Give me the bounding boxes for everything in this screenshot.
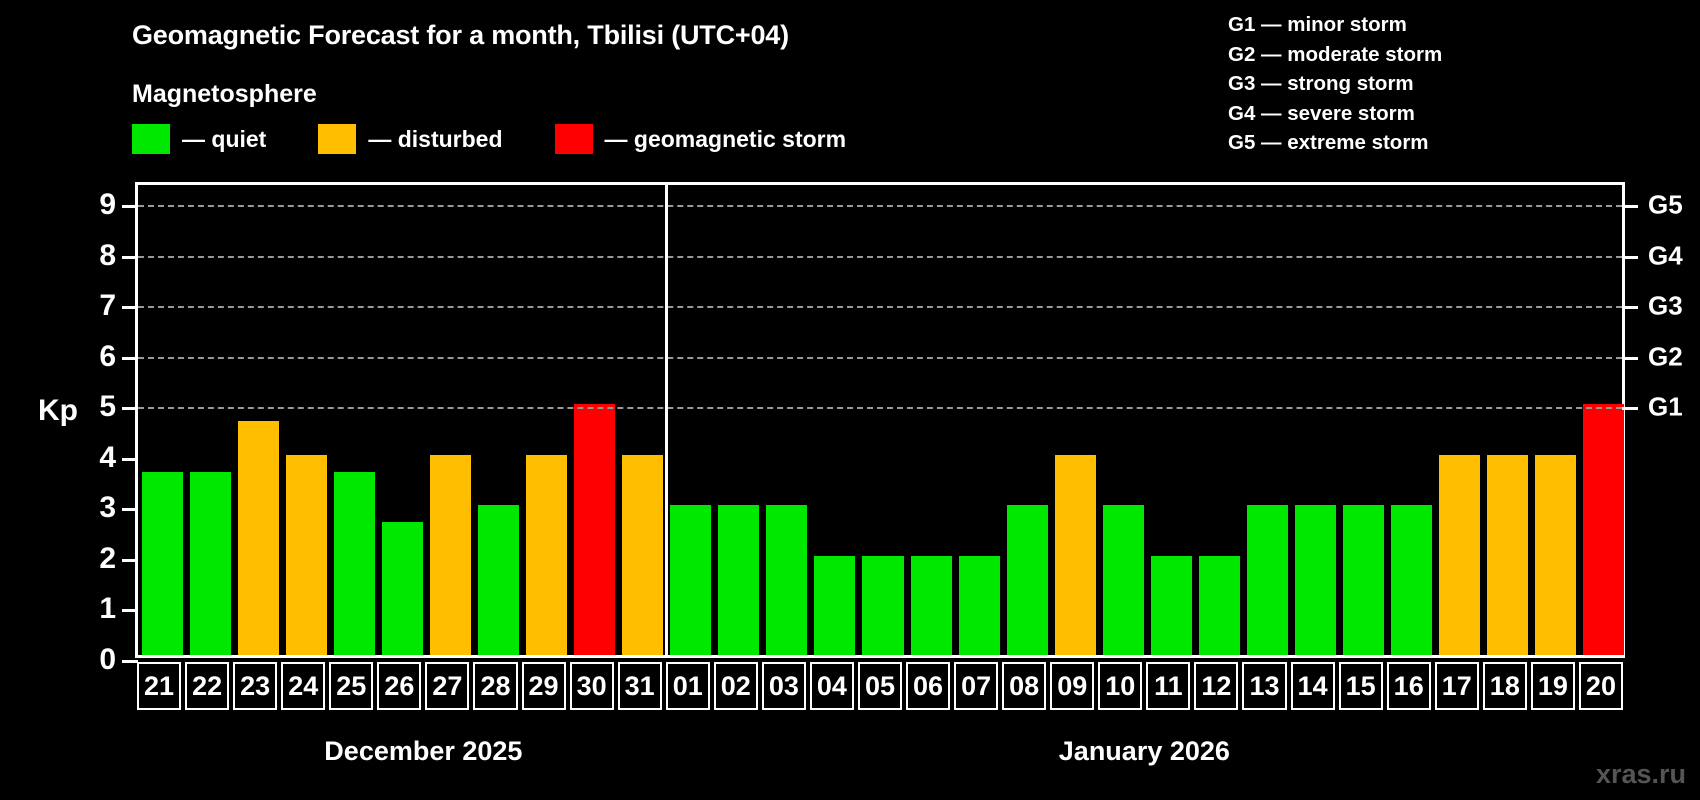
bar-18: [1487, 455, 1528, 657]
page-title: Geomagnetic Forecast for a month, Tbilis…: [132, 20, 789, 51]
g-tick-label-G1: G1: [1648, 392, 1683, 423]
month-labels-row: December 2025January 2026: [135, 736, 1625, 776]
legend-label-quiet: — quiet: [182, 126, 266, 153]
bar-08: [1007, 505, 1048, 657]
g-tick-label-G4: G4: [1648, 240, 1683, 271]
gridline-kp-7: [138, 306, 1622, 308]
bar-14: [1295, 505, 1336, 657]
date-label-12: 12: [1194, 662, 1238, 710]
chart-plot-area: 0123456789G1G2G3G4G5: [135, 182, 1625, 657]
gridline-kp-8: [138, 256, 1622, 258]
bar-22: [190, 472, 231, 657]
date-label-17: 17: [1435, 662, 1479, 710]
month-separator: [665, 185, 668, 657]
legend-swatch-geomagnetic-storm: [555, 124, 593, 154]
y-tick-label-2: 2: [76, 542, 116, 576]
g-tick-label-G2: G2: [1648, 341, 1683, 372]
legend-label-geomagnetic-storm: — geomagnetic storm: [605, 126, 847, 153]
date-label-04: 04: [810, 662, 854, 710]
watermark: xras.ru: [1596, 759, 1686, 790]
legend: — quiet— disturbed— geomagnetic storm: [132, 122, 846, 156]
bar-23: [238, 421, 279, 657]
y-tick-8: [122, 256, 138, 259]
y-tick-label-3: 3: [76, 491, 116, 525]
date-label-22: 22: [185, 662, 229, 710]
g-scale-line-1: G1 — minor storm: [1228, 10, 1442, 40]
y-axis-title: Kp: [38, 394, 78, 428]
y-tick-label-8: 8: [76, 239, 116, 273]
legend-label-disturbed: — disturbed: [368, 126, 502, 153]
date-label-11: 11: [1146, 662, 1190, 710]
bar-01: [670, 505, 711, 657]
date-label-29: 29: [522, 662, 566, 710]
bar-26: [382, 522, 423, 657]
gridline-kp-9: [138, 205, 1622, 207]
date-label-15: 15: [1339, 662, 1383, 710]
date-label-08: 08: [1002, 662, 1046, 710]
bar-05: [862, 556, 903, 657]
y-tick-label-1: 1: [76, 592, 116, 626]
gridline-kp-6: [138, 357, 1622, 359]
bar-12: [1199, 556, 1240, 657]
g-tick-G4: [1622, 256, 1638, 259]
date-label-20: 20: [1579, 662, 1623, 710]
date-label-21: 21: [137, 662, 181, 710]
bar-28: [478, 505, 519, 657]
legend-item-disturbed: — disturbed: [318, 124, 502, 154]
bar-31: [622, 455, 663, 657]
g-tick-G1: [1622, 407, 1638, 410]
date-label-06: 06: [906, 662, 950, 710]
y-tick-2: [122, 559, 138, 562]
date-label-25: 25: [329, 662, 373, 710]
date-label-05: 05: [858, 662, 902, 710]
g-tick-label-G3: G3: [1648, 291, 1683, 322]
legend-item-geomagnetic-storm: — geomagnetic storm: [555, 124, 847, 154]
date-label-23: 23: [233, 662, 277, 710]
date-label-16: 16: [1387, 662, 1431, 710]
bar-24: [286, 455, 327, 657]
y-tick-9: [122, 205, 138, 208]
bar-06: [911, 556, 952, 657]
bar-11: [1151, 556, 1192, 657]
bar-07: [959, 556, 1000, 657]
date-labels-row: 2122232425262728293031010203040506070809…: [135, 662, 1625, 710]
legend-item-quiet: — quiet: [132, 124, 266, 154]
g-tick-G2: [1622, 357, 1638, 360]
date-label-03: 03: [762, 662, 806, 710]
date-label-27: 27: [425, 662, 469, 710]
date-label-26: 26: [377, 662, 421, 710]
g-tick-G3: [1622, 306, 1638, 309]
date-label-28: 28: [473, 662, 517, 710]
bar-20: [1583, 404, 1624, 657]
g-tick-label-G5: G5: [1648, 190, 1683, 221]
bar-17: [1439, 455, 1480, 657]
y-tick-label-6: 6: [76, 340, 116, 374]
y-tick-4: [122, 458, 138, 461]
y-tick-1: [122, 609, 138, 612]
bar-29: [526, 455, 567, 657]
date-label-07: 07: [954, 662, 998, 710]
g-scale-legend: G1 — minor stormG2 — moderate stormG3 — …: [1228, 10, 1442, 158]
x-axis-line: [135, 655, 1625, 658]
bar-03: [766, 505, 807, 657]
date-label-09: 09: [1050, 662, 1094, 710]
bar-21: [142, 472, 183, 657]
bar-16: [1391, 505, 1432, 657]
y-tick-label-5: 5: [76, 390, 116, 424]
legend-swatch-disturbed: [318, 124, 356, 154]
date-label-02: 02: [714, 662, 758, 710]
date-label-30: 30: [570, 662, 614, 710]
month-label: January 2026: [1059, 736, 1230, 767]
date-label-31: 31: [618, 662, 662, 710]
bar-19: [1535, 455, 1576, 657]
bar-13: [1247, 505, 1288, 657]
y-tick-6: [122, 357, 138, 360]
y-tick-7: [122, 306, 138, 309]
month-label: December 2025: [324, 736, 522, 767]
bar-30: [574, 404, 615, 657]
bar-25: [334, 472, 375, 657]
bar-15: [1343, 505, 1384, 657]
y-tick-label-9: 9: [76, 188, 116, 222]
y-tick-label-7: 7: [76, 289, 116, 323]
g-scale-line-5: G5 — extreme storm: [1228, 128, 1442, 158]
date-label-13: 13: [1242, 662, 1286, 710]
bar-10: [1103, 505, 1144, 657]
gridline-kp-5: [138, 407, 1622, 409]
g-scale-line-4: G4 — severe storm: [1228, 99, 1442, 129]
date-label-01: 01: [666, 662, 710, 710]
g-scale-line-2: G2 — moderate storm: [1228, 40, 1442, 70]
y-tick-label-0: 0: [76, 643, 116, 677]
date-label-18: 18: [1483, 662, 1527, 710]
g-scale-line-3: G3 — strong storm: [1228, 69, 1442, 99]
legend-swatch-quiet: [132, 124, 170, 154]
bar-09: [1055, 455, 1096, 657]
y-tick-5: [122, 407, 138, 410]
y-tick-label-4: 4: [76, 441, 116, 475]
date-label-19: 19: [1531, 662, 1575, 710]
bar-04: [814, 556, 855, 657]
bar-02: [718, 505, 759, 657]
magnetosphere-label: Magnetosphere: [132, 80, 317, 109]
date-label-10: 10: [1098, 662, 1142, 710]
y-tick-3: [122, 508, 138, 511]
bar-27: [430, 455, 471, 657]
date-label-14: 14: [1291, 662, 1335, 710]
date-label-24: 24: [281, 662, 325, 710]
g-tick-G5: [1622, 205, 1638, 208]
